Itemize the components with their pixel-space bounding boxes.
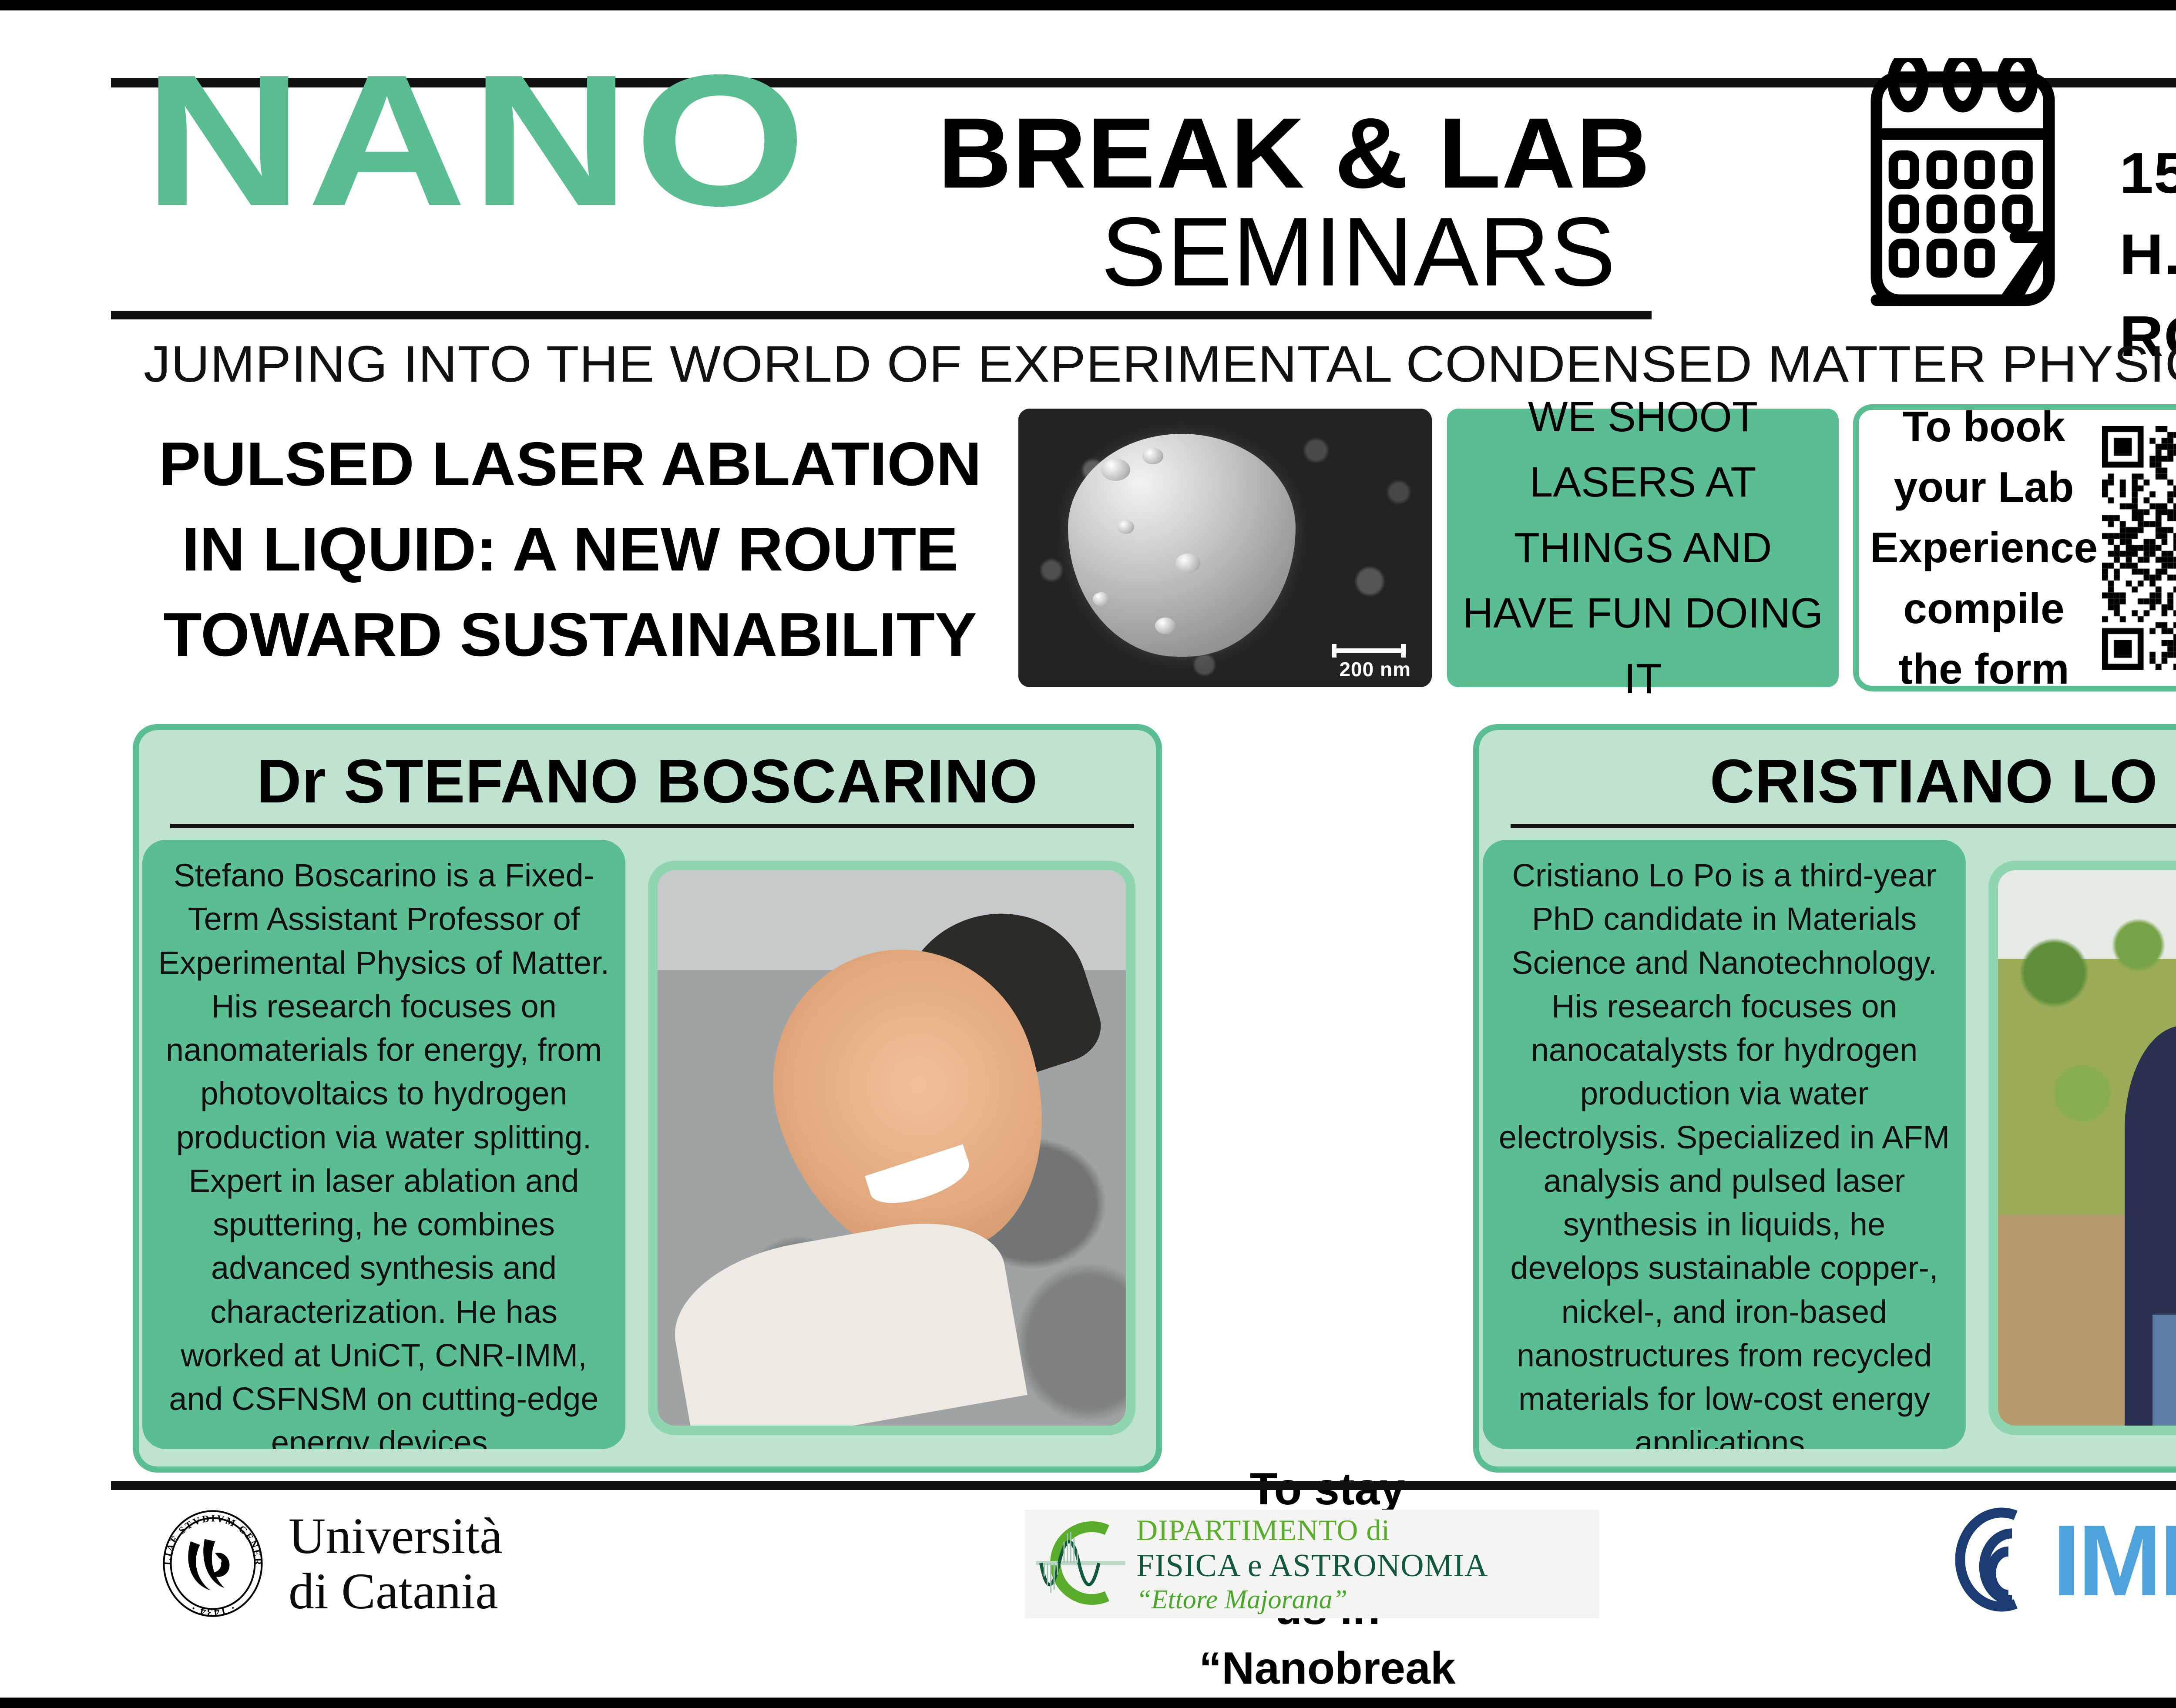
university-name: Università di Catania (289, 1508, 503, 1619)
speaker-bio-left: Stefano Boscarino is a Fixed-Term Assist… (142, 840, 625, 1449)
sem-bump (1118, 520, 1134, 534)
speaker-divider-right (1511, 824, 2176, 828)
scale-bar-label: 200 nm (1339, 658, 1411, 681)
sem-bump (1155, 617, 1176, 634)
slogan-text: WE SHOOT LASERS AT THINGS AND HAVE FUN D… (1457, 384, 1828, 711)
header-subtitle: JUMPING INTO THE WORLD OF EXPERIMENTAL C… (144, 335, 2176, 394)
imm-spiral-logo (1932, 1501, 2041, 1621)
letterbox-top (0, 0, 2176, 10)
poster-sheet: NANO BREAK & LAB SEMINARS (0, 10, 2176, 1698)
footer: SICILIAE STVDIVM GENERALE · 1434 · (0, 1490, 2176, 1690)
department-logo: DIPARTIMENTO di FISICA e ASTRONOMIA “Ett… (1025, 1510, 1599, 1618)
topic-row: PULSED LASER ABLATION IN LIQUID: A NEW R… (0, 404, 2176, 705)
unict-seal-icon: SICILIAE STVDIVM GENERALE · 1434 · (154, 1505, 271, 1622)
talk-title: PULSED LASER ABLATION IN LIQUID: A NEW R… (135, 422, 1005, 678)
university-name-line1: Università (289, 1508, 503, 1564)
university-logo: SICILIAE STVDIVM GENERALE · 1434 · (154, 1505, 503, 1622)
event-date: 15/04/2025 (2119, 132, 2176, 214)
header-bottom-rule (111, 311, 1652, 319)
speaker-photo-stefano-boscarino (648, 861, 1135, 1435)
speaker-name-left: Dr STEFANO BOSCARINO (139, 746, 1156, 817)
calendar-icon (1856, 58, 2069, 311)
speaker-photo-cristiano-lo-po (1988, 861, 2176, 1435)
speakers-row: Dr STEFANO BOSCARINO Stefano Boscarino i… (0, 724, 2176, 1481)
institute-logo: IMM (1932, 1501, 2176, 1621)
sine-wave-logo (1031, 1513, 1130, 1615)
seminar-title-line1: BREAK & LAB (938, 95, 1651, 211)
speaker-card-right: CRISTIANO LO PÒ Cristiano Lo Po is a thi… (1473, 724, 2176, 1473)
department-line3: “Ettore Majorana” (1136, 1584, 1488, 1615)
header: NANO BREAK & LAB SEMINARS (0, 10, 2176, 341)
booking-box: To book your Lab Experience compile the … (1853, 404, 2176, 691)
university-name-line2: di Catania (289, 1564, 503, 1619)
seminar-title-line2: SEMINARS (1101, 195, 1616, 308)
speaker-bio-right: Cristiano Lo Po is a third-year PhD cand… (1483, 840, 1966, 1449)
speaker-card-left: Dr STEFANO BOSCARINO Stefano Boscarino i… (133, 724, 1162, 1473)
speaker-name-right: CRISTIANO LO PÒ (1479, 746, 2176, 817)
booking-text: To book your Lab Experience compile the … (1870, 396, 2098, 699)
speaker-divider-left (170, 824, 1134, 828)
scale-bar (1332, 648, 1406, 653)
sem-nanoparticle-image: 200 nm (1018, 409, 1432, 687)
department-line2: FISICA e ASTRONOMIA (1136, 1547, 1488, 1584)
footer-rule (111, 1481, 2176, 1490)
institute-acronym: IMM (2052, 1510, 2176, 1611)
sem-bump (1101, 459, 1130, 481)
slogan-box: WE SHOOT LASERS AT THINGS AND HAVE FUN D… (1447, 409, 1839, 687)
event-time: H. 15:00 (2119, 214, 2176, 295)
sem-bump (1175, 554, 1200, 573)
letterbox-bottom (0, 1698, 2176, 1708)
booking-form-qr-code[interactable] (2102, 426, 2176, 670)
brand-nano: NANO (144, 52, 810, 230)
sem-bump (1142, 448, 1163, 464)
poster-root: NANO BREAK & LAB SEMINARS (0, 0, 2176, 1708)
department-line1: DIPARTIMENTO di (1136, 1513, 1488, 1547)
